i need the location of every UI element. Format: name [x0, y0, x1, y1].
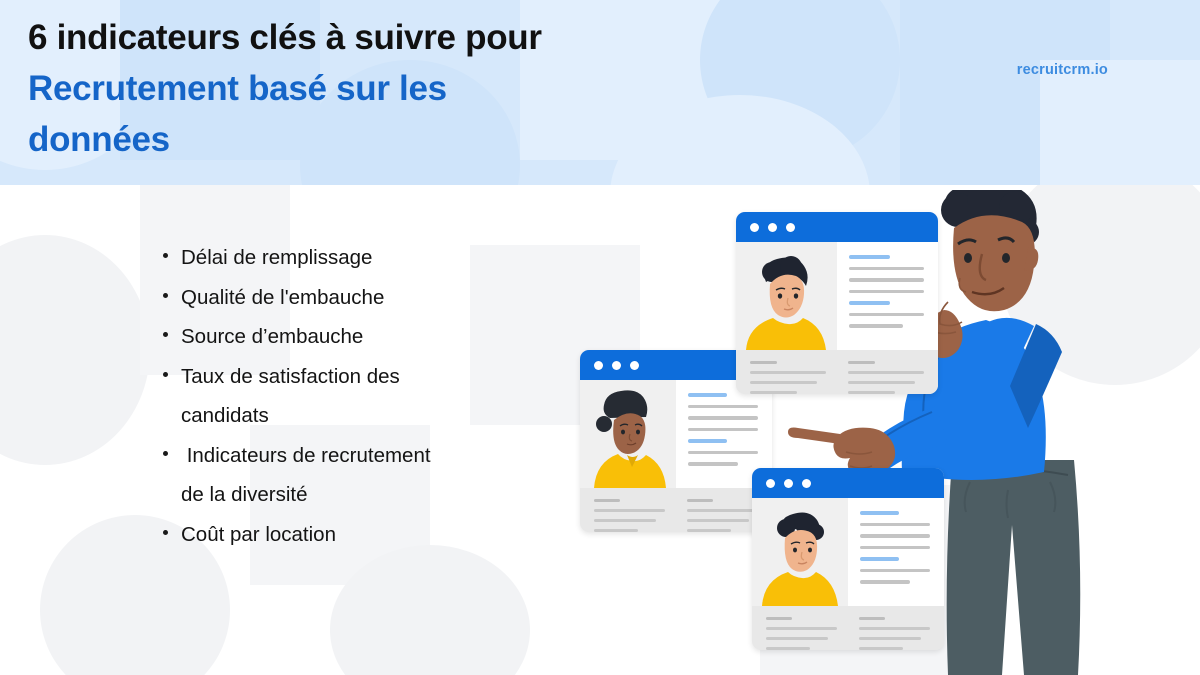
bullet-dot-icon [163, 451, 168, 456]
candidate-profile-card-1[interactable] [736, 212, 938, 394]
text-line [860, 580, 910, 584]
window-dot-icon [786, 223, 795, 232]
text-line [849, 290, 924, 294]
card-text-block [848, 498, 944, 606]
window-dot-icon [750, 223, 759, 232]
footer-heading-line [859, 617, 885, 620]
text-line [688, 416, 758, 420]
avatar-male-dark-hair-icon [736, 242, 837, 350]
footer-line [750, 381, 817, 384]
text-line [860, 546, 930, 550]
card-text-block [837, 242, 938, 350]
list-item-continuation: de la diversité [163, 475, 563, 515]
window-dot-icon [594, 361, 603, 370]
header-band: 6 indicateurs clés à suivre pour Recrute… [0, 0, 1200, 185]
text-line-heading [849, 255, 890, 259]
list-item: Coût par location [163, 515, 563, 555]
text-line [688, 405, 758, 409]
list-item-label: Taux de satisfaction des [181, 357, 400, 397]
candidate-avatar [736, 242, 837, 350]
footer-column [766, 617, 837, 650]
list-item: Source d’embauche [163, 317, 563, 357]
window-dot-icon [768, 223, 777, 232]
title-line-2: Recrutement basé sur les [28, 63, 728, 114]
bg-blob [0, 235, 150, 465]
list-item: Qualité de l'embauche [163, 278, 563, 318]
footer-line [750, 371, 826, 374]
man-face [953, 215, 1035, 311]
candidate-profile-card-3[interactable] [752, 468, 944, 650]
list-item: Délai de remplissage [163, 238, 563, 278]
text-line [849, 313, 924, 317]
footer-column [750, 361, 826, 394]
list-item-label: Source d’embauche [181, 317, 363, 357]
text-line [860, 569, 930, 573]
footer-column [594, 499, 665, 532]
footer-column [859, 617, 930, 650]
footer-line [848, 371, 924, 374]
card-footer [580, 488, 772, 532]
window-dot-icon [630, 361, 639, 370]
footer-line [687, 509, 758, 512]
bullet-dot-icon-hidden [163, 411, 168, 416]
bullet-dot-icon [163, 253, 168, 258]
footer-line [848, 381, 915, 384]
window-title-bar [736, 212, 938, 242]
man-eye-right [1002, 253, 1010, 263]
brand-logo[interactable]: recruitcrm.io [1017, 62, 1108, 78]
footer-column [687, 499, 758, 532]
text-line [849, 267, 924, 271]
footer-line [687, 519, 749, 522]
footer-heading-line [750, 361, 777, 364]
window-dot-icon [784, 479, 793, 488]
text-line-heading [688, 393, 727, 397]
footer-heading-line [848, 361, 875, 364]
header-square [1040, 60, 1200, 185]
slide-root: 6 indicateurs clés à suivre pour Recrute… [0, 0, 1200, 675]
list-item-label: Coût par location [181, 515, 336, 555]
text-line [849, 324, 903, 328]
card-footer [752, 606, 944, 650]
card-footer [736, 350, 938, 394]
text-line [860, 523, 930, 527]
footer-line [859, 637, 921, 640]
text-line [849, 278, 924, 282]
candidate-avatar [752, 498, 848, 606]
title-line-1: 6 indicateurs clés à suivre pour [28, 12, 728, 63]
bullet-dot-icon [163, 293, 168, 298]
text-line-heading [860, 557, 899, 561]
footer-heading-line [594, 499, 620, 502]
footer-line [687, 529, 731, 532]
list-item-label: de la diversité [181, 475, 307, 515]
text-line-heading [860, 511, 899, 515]
bullet-dot-icon [163, 372, 168, 377]
footer-line [594, 519, 656, 522]
text-line [688, 451, 758, 455]
footer-line [848, 391, 895, 394]
text-line-heading [688, 439, 727, 443]
man-eye-left [964, 253, 972, 263]
bullet-dot-icon-hidden [163, 490, 168, 495]
window-dot-icon [612, 361, 621, 370]
list-item-label: Délai de remplissage [181, 238, 372, 278]
page-title: 6 indicateurs clés à suivre pour Recrute… [28, 12, 728, 165]
list-item-label: Qualité de l'embauche [181, 278, 384, 318]
list-item-continuation: candidats [163, 396, 563, 436]
kpi-bullet-list: Délai de remplissage Qualité de l'embauc… [163, 238, 563, 554]
footer-column [848, 361, 924, 394]
text-line [688, 428, 758, 432]
text-line [860, 534, 930, 538]
footer-heading-line [766, 617, 792, 620]
footer-heading-line [687, 499, 713, 502]
list-item: Taux de satisfaction des [163, 357, 563, 397]
avatar-male-curly-icon [752, 498, 848, 606]
footer-line [750, 391, 797, 394]
footer-line [594, 509, 665, 512]
avatar-female-bun-icon [580, 380, 676, 488]
footer-line [859, 627, 930, 630]
card-body [580, 380, 772, 488]
title-line-3: données [28, 114, 728, 165]
footer-line [594, 529, 638, 532]
illustration [540, 190, 1200, 675]
man-index-finger [788, 428, 840, 445]
footer-line [766, 627, 837, 630]
list-item: Indicateurs de recrutement [163, 436, 563, 476]
footer-line [859, 647, 903, 650]
footer-line [766, 637, 828, 640]
candidate-avatar [580, 380, 676, 488]
list-item-label: candidats [181, 396, 269, 436]
window-title-bar [752, 468, 944, 498]
card-body [752, 498, 944, 606]
text-line [688, 462, 738, 466]
bullet-dot-icon [163, 530, 168, 535]
card-body [736, 242, 938, 350]
footer-line [766, 647, 810, 650]
text-line-heading [849, 301, 890, 305]
list-item-label: Indicateurs de recrutement [181, 436, 431, 476]
window-dot-icon [802, 479, 811, 488]
window-dot-icon [766, 479, 775, 488]
bullet-dot-icon [163, 332, 168, 337]
